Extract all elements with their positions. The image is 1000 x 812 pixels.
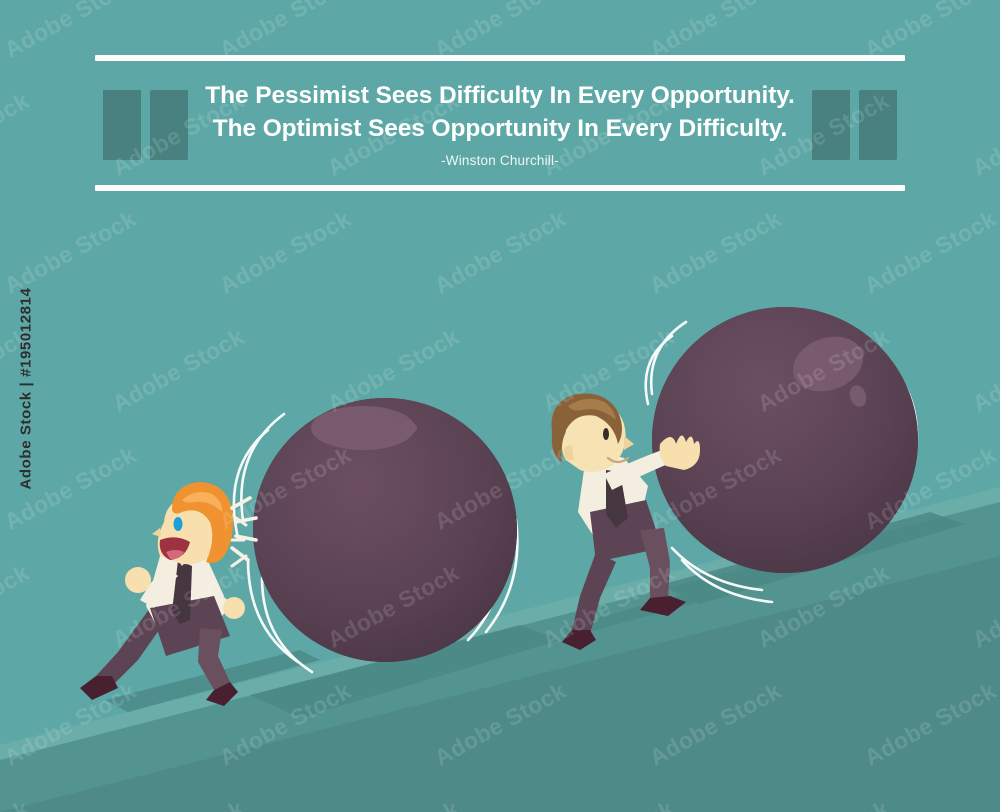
optimist-front-shoe (640, 596, 686, 616)
pessimist-front-fist (125, 567, 151, 593)
sidebar-watermark: Adobe Stock | #195012814 (6, 0, 40, 812)
optimist-front-leg (640, 528, 670, 600)
pessimist-back-shoe (80, 676, 118, 700)
pessimist-nose (152, 528, 161, 537)
illustration-canvas: The Pessimist Sees Difficulty In Every O… (0, 0, 1000, 812)
optimist-back-shoe (562, 630, 596, 650)
pessimist-back-fist (223, 597, 245, 619)
optimist-eye (603, 428, 609, 440)
pessimist-eye (174, 517, 183, 531)
boulder-highlight-dot-left (399, 422, 417, 434)
optimist-nose (624, 436, 634, 450)
pessimist-running-man (80, 482, 256, 706)
optimist-back-leg (572, 552, 616, 634)
scene-figures (0, 0, 1000, 812)
sidebar-watermark-text: Adobe Stock | #195012814 (18, 109, 35, 669)
